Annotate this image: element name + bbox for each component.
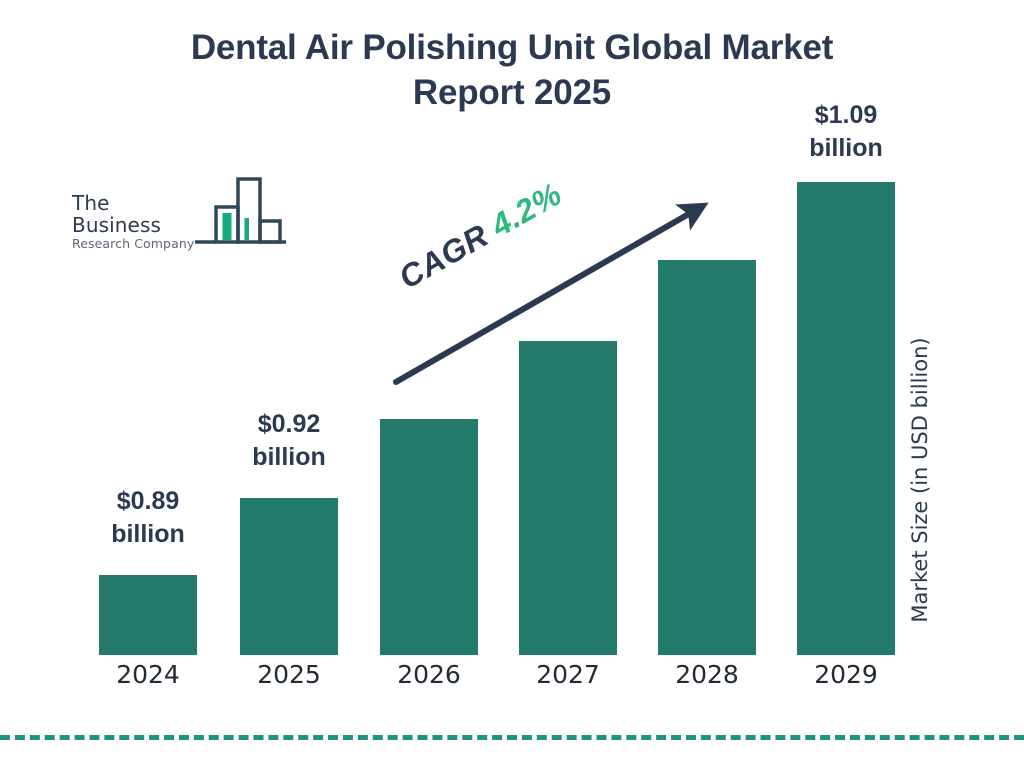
bar-2025 bbox=[240, 498, 338, 655]
x-tick-label-2026: 2026 bbox=[380, 660, 478, 689]
bar-2029 bbox=[797, 182, 895, 655]
bar-2028 bbox=[658, 260, 756, 655]
x-tick-label-2025: 2025 bbox=[240, 660, 338, 689]
bar-2024 bbox=[99, 575, 197, 655]
bar-value-label-2029: $1.09 billion bbox=[777, 99, 915, 164]
x-tick-label-2027: 2027 bbox=[519, 660, 617, 689]
y-axis-title: Market Size (in USD billion) bbox=[908, 300, 932, 660]
x-tick-label-2024: 2024 bbox=[99, 660, 197, 689]
footer-divider bbox=[0, 735, 1024, 740]
bar-value-label-2025: $0.92 billion bbox=[220, 408, 358, 473]
plot-area: $0.89 billion $0.92 billion $1.09 billio… bbox=[0, 0, 1024, 768]
x-tick-label-2028: 2028 bbox=[658, 660, 756, 689]
bar-2026 bbox=[380, 419, 478, 655]
x-tick-label-2029: 2029 bbox=[797, 660, 895, 689]
market-report-chart: Dental Air Polishing Unit Global Market … bbox=[0, 0, 1024, 768]
bar-value-label-2024: $0.89 billion bbox=[79, 485, 217, 550]
bar-2027 bbox=[519, 341, 617, 655]
